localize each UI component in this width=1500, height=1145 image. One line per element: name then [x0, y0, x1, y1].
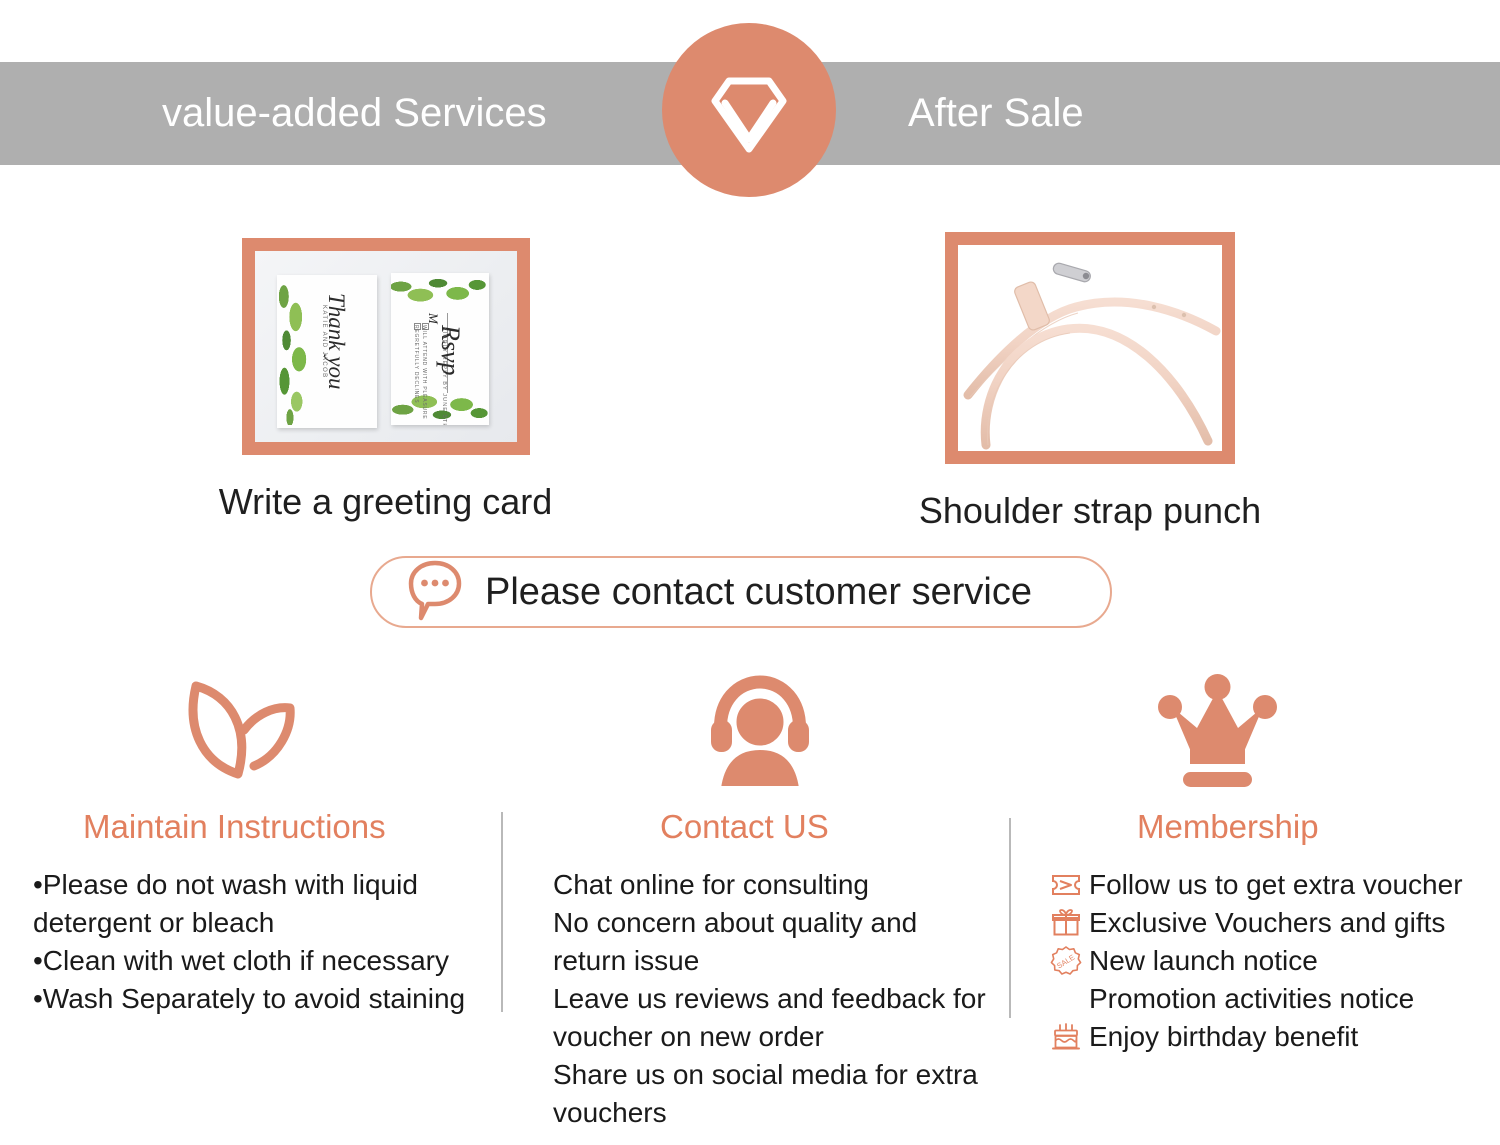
leaf-decoration-bottom-icon [391, 391, 489, 425]
brand-logo [662, 23, 836, 197]
contact-line: Chat online for consulting [553, 866, 995, 904]
maintain-line: •Clean with wet cloth if necessary [33, 942, 495, 980]
section-contact-us: Contact US Chat online for consulting No… [515, 666, 995, 1133]
two-leaves-icon [15, 666, 495, 796]
section-title-membership: Membership [1025, 808, 1485, 846]
maintain-instructions-list: •Please do not wash with liquid detergen… [15, 866, 495, 1018]
list-item-label: New launch notice [1089, 942, 1318, 980]
ticket-icon [1043, 866, 1089, 904]
contact-customer-service-label: Please contact customer service [485, 571, 1032, 614]
headset-support-icon [515, 666, 995, 796]
greeting-card-back-subline: KINDLY REPLY BY JUNE 5TH [441, 327, 447, 425]
list-item-label: Promotion activities notice [1089, 980, 1414, 1018]
membership-benefits-list: Follow us to get extra voucher Exclusive… [1025, 866, 1485, 1056]
sale-badge-icon: SALE [1043, 942, 1089, 980]
maintain-line: •Please do not wash with liquid detergen… [33, 866, 495, 942]
section-title-contact-us: Contact US [515, 808, 995, 846]
section-divider-2 [1009, 818, 1011, 1018]
leaf-decoration-top-icon [391, 273, 489, 307]
section-membership: Membership Follow us to get extra vouche… [1025, 666, 1485, 1056]
greeting-card-front: Thank you KATIE AND JACOB [277, 275, 377, 428]
contact-us-list: Chat online for consulting No concern ab… [515, 866, 995, 1133]
contact-customer-service-button[interactable]: Please contact customer service [370, 556, 1112, 628]
greeting-card-front-subline: KATIE AND JACOB [321, 305, 327, 379]
rsvp-option-decline: REGRETFULLY DECLINES [413, 325, 419, 403]
greeting-card-back-headline: Rsvp [435, 325, 465, 376]
contact-line: No concern about quality and return issu… [553, 904, 995, 980]
list-item: SALE New launch notice [1043, 942, 1485, 980]
banner-label-left: value-added Services [162, 62, 547, 165]
shoulder-strap-photo-frame [945, 232, 1235, 464]
svg-text:SALE: SALE [1055, 953, 1076, 971]
product-block-greeting-card: Thank you KATIE AND JACOB M Rsvp KINDLY … [183, 238, 588, 523]
greeting-card-photo: Thank you KATIE AND JACOB M Rsvp KINDLY … [255, 251, 517, 442]
list-item: Exclusive Vouchers and gifts [1043, 904, 1485, 942]
speech-bubble-icon [407, 559, 463, 626]
shoulder-strap-photo [958, 245, 1222, 451]
birthday-cake-icon [1043, 1018, 1089, 1056]
leaf-decoration-icon [277, 279, 311, 425]
section-title-maintain-instructions: Maintain Instructions [15, 808, 495, 846]
maintain-line: •Wash Separately to avoid staining [33, 980, 495, 1018]
list-item: Promotion activities notice [1043, 980, 1485, 1018]
contact-line: Share us on social media for extra vouch… [553, 1056, 995, 1132]
list-item-label: Follow us to get extra voucher [1089, 866, 1463, 904]
contact-line: Leave us reviews and feedback for vouche… [553, 980, 995, 1056]
greeting-card-photo-frame: Thank you KATIE AND JACOB M Rsvp KINDLY … [242, 238, 530, 455]
list-item: Enjoy birthday benefit [1043, 1018, 1485, 1056]
product-caption-greeting-card: Write a greeting card [183, 481, 588, 523]
banner-label-right: After Sale [908, 62, 1084, 165]
greeting-card-back: M Rsvp KINDLY REPLY BY JUNE 5TH WILL ATT… [391, 273, 489, 425]
gift-box-icon [1043, 904, 1089, 942]
section-maintain-instructions: Maintain Instructions •Please do not was… [15, 666, 495, 1018]
list-item-label: Enjoy birthday benefit [1089, 1018, 1358, 1056]
product-caption-shoulder-strap: Shoulder strap punch [870, 490, 1310, 532]
list-item-label: Exclusive Vouchers and gifts [1089, 904, 1445, 942]
product-block-shoulder-strap: Shoulder strap punch [870, 232, 1310, 532]
bottom-sections: Maintain Instructions •Please do not was… [0, 666, 1500, 1126]
rsvp-option-attend: WILL ATTEND WITH PLEASURE [421, 325, 427, 419]
section-divider-1 [501, 812, 503, 1012]
list-item: Follow us to get extra voucher [1043, 866, 1485, 904]
crown-icon [1025, 666, 1485, 796]
